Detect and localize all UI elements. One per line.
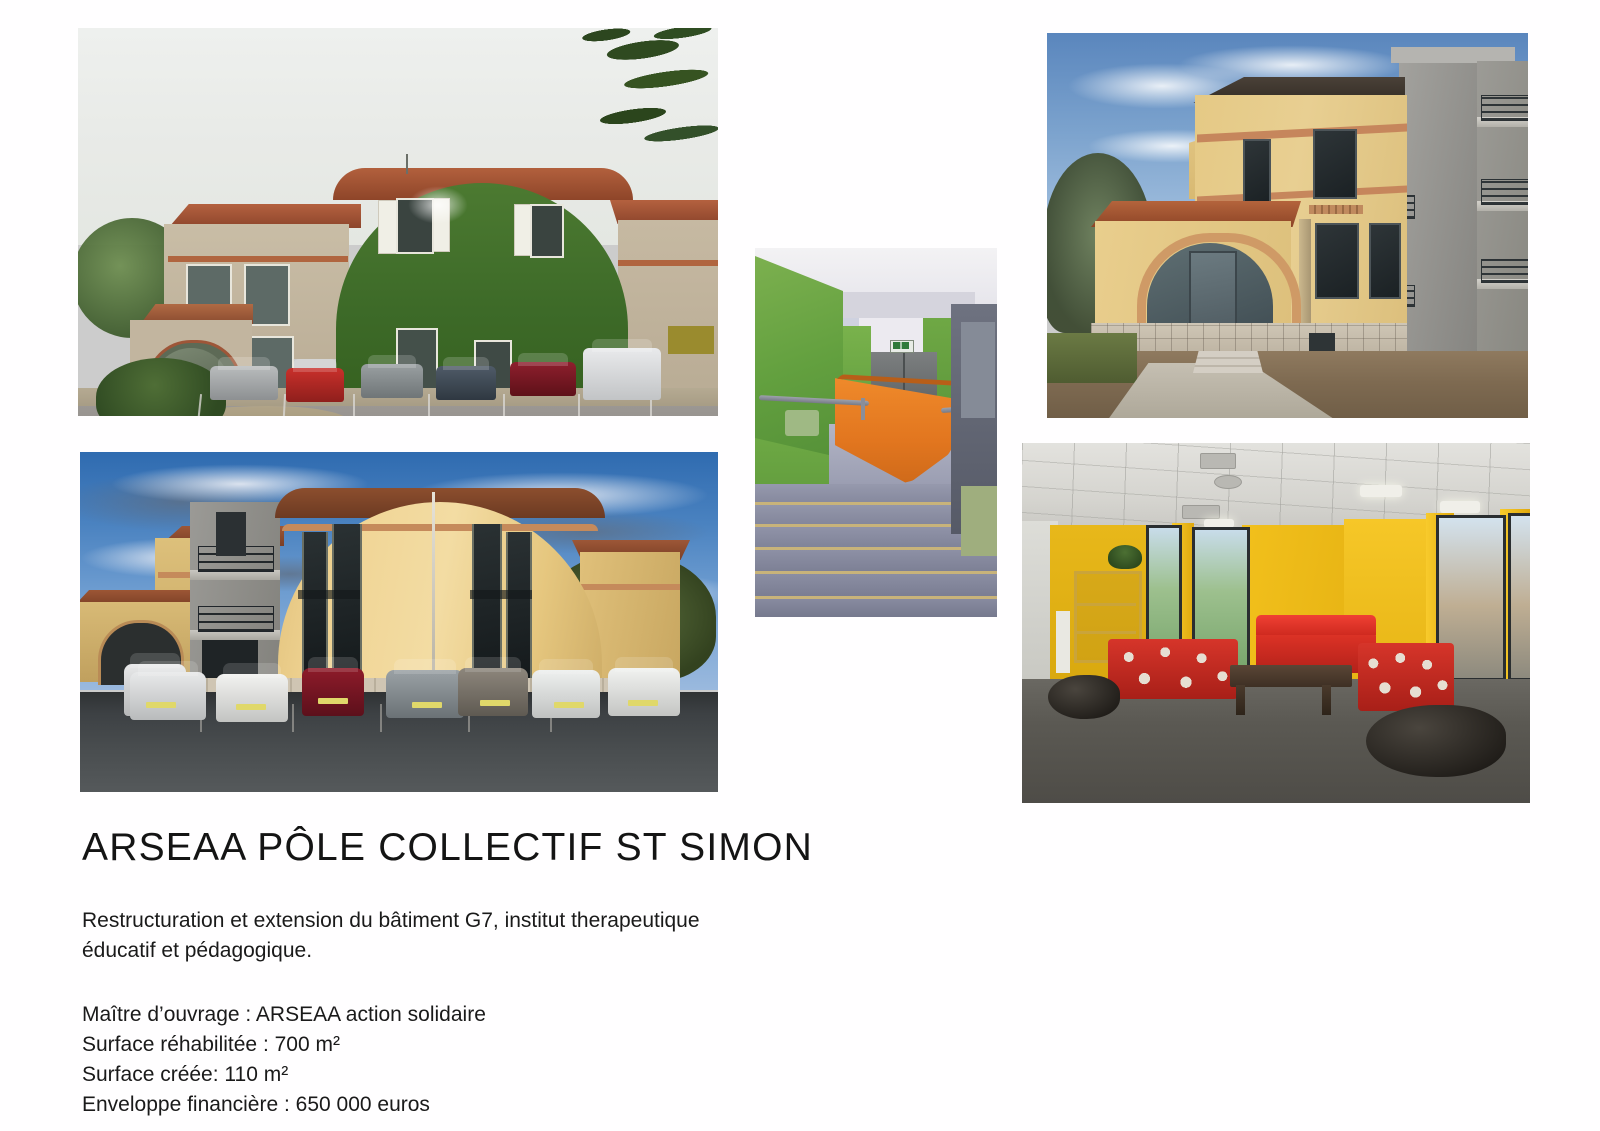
- entrance-steps: [1193, 351, 1263, 373]
- parking-line: [353, 394, 355, 416]
- parked-car: [210, 366, 278, 400]
- lens-flare: [408, 186, 468, 224]
- antenna: [406, 154, 408, 174]
- project-text-block: ARSEAA PÔLE COLLECTIF ST SIMON Restructu…: [82, 826, 1042, 1120]
- balcony-railing: [1481, 259, 1528, 283]
- window: [1315, 223, 1359, 299]
- window: [1313, 129, 1357, 199]
- wall-green-far-right: [961, 486, 997, 556]
- coffee-table: [1230, 665, 1352, 687]
- stair-step: [755, 599, 997, 617]
- licence-plate: [628, 700, 658, 706]
- photo-rotunda-facade: [80, 452, 718, 792]
- parked-car: [286, 368, 344, 402]
- project-facts: Maître d’ouvrage : ARSEAA action solidai…: [82, 1000, 1042, 1120]
- licence-plate: [146, 702, 176, 708]
- parked-car: [386, 670, 464, 718]
- brick-band: [618, 260, 718, 266]
- wall-fixture: [785, 410, 819, 436]
- licence-plate: [412, 702, 442, 708]
- ceiling-vent: [1182, 505, 1220, 519]
- tower-door: [216, 512, 246, 556]
- parked-car: [130, 672, 206, 720]
- door-right-glazing: [961, 322, 995, 418]
- parked-car: [458, 668, 528, 716]
- parking-line: [292, 704, 294, 732]
- bean-bag: [1048, 675, 1120, 719]
- licence-plate: [236, 704, 266, 710]
- parked-van: [583, 348, 661, 400]
- fact-surface-created: Surface créée: 110 m²: [82, 1060, 1042, 1090]
- balcony-railing: [1481, 95, 1528, 121]
- project-description: Restructuration et extension du bâtiment…: [82, 906, 1042, 966]
- parked-car: [302, 668, 364, 716]
- rotunda-brick-band: [282, 524, 598, 531]
- photo-stairwell: [755, 248, 997, 617]
- stair-step: [755, 574, 997, 598]
- fact-client: Maître d’ouvrage : ARSEAA action solidai…: [82, 1000, 1042, 1030]
- cornice-dentil: [1309, 205, 1363, 214]
- project-sheet-page: ARSEAA PÔLE COLLECTIF ST SIMON Restructu…: [0, 0, 1600, 1131]
- licence-plate: [318, 698, 348, 704]
- balcony-railing: [1481, 179, 1528, 205]
- exit-sign-pictogram-icon: [893, 342, 909, 349]
- brick-band: [580, 584, 680, 590]
- window: [1243, 139, 1271, 205]
- radiator: [1056, 611, 1070, 673]
- photo-lounge: [1022, 443, 1530, 803]
- photo-renovated-entrance: [1047, 33, 1528, 418]
- description-line-1: Restructuration et extension du bâtiment…: [82, 909, 700, 932]
- grass-left: [1047, 333, 1137, 383]
- parked-car: [532, 670, 600, 718]
- parked-car: [436, 366, 496, 400]
- roadside-sign: [668, 326, 714, 354]
- ceiling-light: [1440, 501, 1480, 513]
- parked-car: [608, 668, 680, 716]
- air-vent: [1309, 333, 1335, 351]
- fact-surface-rehabilitated: Surface réhabilitée : 700 m²: [82, 1030, 1042, 1060]
- brick-band: [168, 256, 348, 262]
- parked-car: [361, 364, 423, 398]
- window-transom: [470, 590, 532, 599]
- window-bay: [1508, 513, 1530, 681]
- licence-plate: [554, 702, 584, 708]
- parking-line: [503, 394, 505, 416]
- shelf: [1074, 631, 1136, 634]
- window: [1369, 223, 1401, 299]
- shelf: [1074, 603, 1136, 606]
- handrail-post: [861, 398, 865, 420]
- parked-car: [216, 674, 288, 722]
- page-title: ARSEAA PÔLE COLLECTIF ST SIMON: [82, 826, 1042, 870]
- polka-dot-sofa: [1108, 639, 1238, 699]
- photo-existing-building: [78, 28, 718, 416]
- ceiling-vent: [1200, 453, 1236, 469]
- parked-car: [510, 362, 576, 396]
- balcony-railing: [198, 606, 274, 632]
- polka-dot-armchair: [1358, 643, 1454, 711]
- window: [530, 204, 564, 258]
- parking-line: [428, 394, 430, 416]
- bean-bag: [1366, 705, 1506, 777]
- window-transom: [298, 590, 360, 599]
- ceiling-vent: [1214, 475, 1242, 489]
- parking-line: [380, 704, 382, 732]
- licence-plate: [480, 700, 510, 706]
- hanging-plant: [1108, 545, 1142, 569]
- table-leg: [1236, 685, 1245, 715]
- parking-line: [578, 394, 580, 416]
- description-line-2: éducatif et pédagogique.: [82, 939, 312, 962]
- table-leg: [1322, 685, 1331, 715]
- fact-budget: Enveloppe financière : 650 000 euros: [82, 1090, 1042, 1120]
- shutter: [378, 200, 398, 254]
- ceiling-light: [1360, 485, 1402, 497]
